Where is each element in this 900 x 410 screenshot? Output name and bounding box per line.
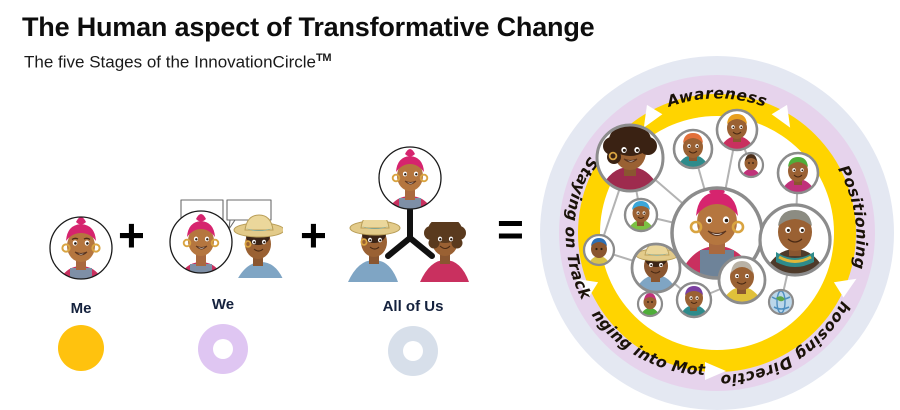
legend-dot-all-of-us-hole: [403, 341, 423, 361]
network-node-hat-blue: [632, 243, 680, 292]
legend-dot-all-of-us: [388, 326, 438, 376]
network-node-awareness-top: [717, 110, 757, 150]
operator-equals: =: [497, 206, 524, 252]
operator-plus-1: +: [118, 212, 145, 258]
page-title: The Human aspect of Transformative Chang…: [22, 12, 594, 43]
legend-dot-me: [58, 325, 104, 371]
network-node-small-purple: [677, 283, 711, 317]
network-node-lower-center: [719, 257, 765, 303]
avatar-all-of-us-group: [340, 140, 480, 290]
innovation-circle-wheel: Awareness Positioning Choosing Direction…: [536, 52, 898, 410]
operator-plus-2: +: [300, 212, 327, 258]
trademark-symbol: TM: [316, 52, 331, 64]
term-label-we: We: [186, 296, 260, 313]
network-node-staying-on-track: [597, 124, 663, 191]
term-label-all-of-us: All of Us: [358, 298, 468, 315]
network-node-tiny-bottom-right: [769, 290, 793, 314]
page-subtitle-text: The five Stages of the InnovationCircle: [24, 53, 316, 72]
legend-dot-we-hole: [213, 339, 233, 359]
slide-canvas: The Human aspect of Transformative Chang…: [0, 0, 900, 410]
page-subtitle: The five Stages of the InnovationCircleT…: [24, 52, 331, 73]
avatar-me: [45, 208, 117, 290]
term-label-me: Me: [45, 300, 117, 317]
network-node-right-green: [778, 153, 818, 193]
network-node-upper-left-md: [674, 130, 712, 168]
legend-dot-we: [198, 324, 248, 374]
term-we-avatar-group: [165, 186, 283, 295]
network-node-positioning: [760, 205, 830, 275]
avatar-we-pair: [165, 186, 283, 290]
term-me-avatar-group: [45, 208, 117, 295]
network-node-left-small: [625, 199, 657, 231]
network-node-tiny-right: [739, 153, 763, 177]
network-node-tiny-edge-left: [584, 235, 615, 266]
term-all-of-us-avatar-group: [340, 140, 480, 295]
network-node-tiny-left: [638, 292, 662, 316]
